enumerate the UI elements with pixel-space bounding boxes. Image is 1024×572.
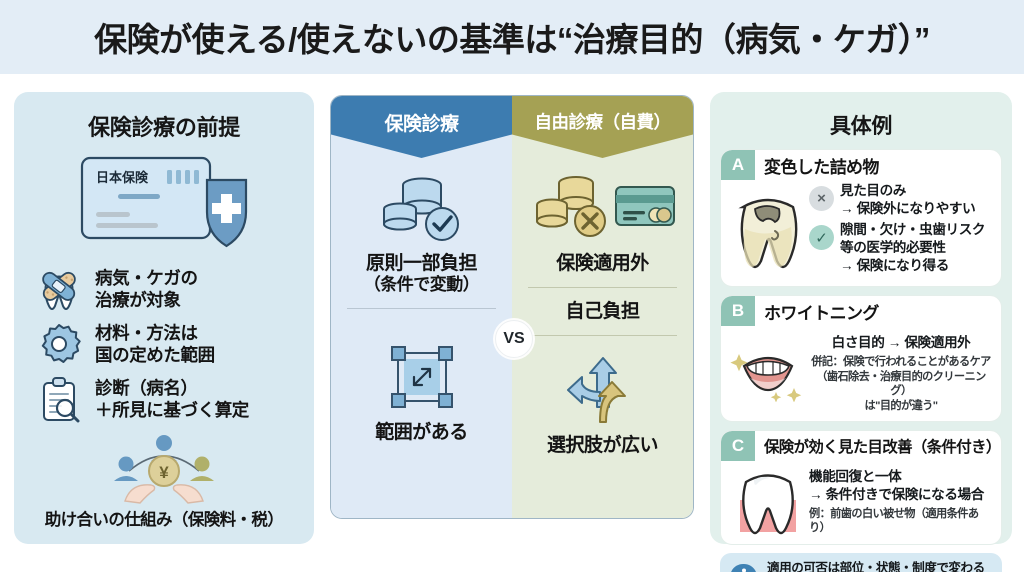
- example-badge-a: A: [721, 150, 755, 180]
- bullet-item-2-line1: 診断（病名）: [95, 377, 249, 399]
- example-row-a-1: ✓ 隙間・欠け・虫歯リスク 等の医学的必要性 → 保険になり得る: [809, 221, 993, 274]
- example-row-a-0-line2: → 保険外になりやすい: [840, 200, 975, 218]
- divider: [528, 335, 677, 336]
- check-icon: ✓: [809, 225, 834, 250]
- smiling-mouth-sparkle-icon: [729, 328, 807, 413]
- example-row-a-0: × 見た目のみ → 保険外になりやすい: [809, 182, 993, 217]
- mutual-aid-caption: 助け合いの仕組み（保険料・税）: [28, 506, 300, 530]
- example-card-b-text: 白さ目的 → 保険適用外 併記：保険で行われることがあるケア （歯石除去・治療目…: [807, 328, 993, 413]
- bullet-item-1-text: 材料・方法は 国の定めた範囲: [95, 322, 215, 367]
- mutual-aid-illustration: ¥: [28, 431, 300, 505]
- example-card-a-rows: × 見た目のみ → 保険外になりやすい ✓ 隙間・欠け・虫歯リスク 等の医学的必…: [807, 182, 993, 278]
- clipboard-magnifier-icon: [36, 376, 82, 422]
- bullet-item-1-line1: 材料・方法は: [95, 322, 215, 344]
- example-c-main1: 機能回復と一体: [809, 468, 993, 486]
- comparison-right-body: 保険適用外 自己負担 選択肢が広い: [512, 158, 693, 458]
- example-card-c-text: 機能回復と一体 → 条件付きで保険になる場合 例：前歯の白い被せ物（適用条件あり…: [807, 463, 993, 535]
- example-badge-b: B: [721, 296, 755, 326]
- gear-icon: [36, 321, 82, 367]
- coins-check-icon: [343, 166, 500, 250]
- example-card-c-header: C 保険が効く見た目改善（条件付き）: [721, 431, 1001, 461]
- example-b-note-0: 併記：保険で行われることがあるケア: [809, 355, 993, 370]
- comparison-right-item-1-label: 自己負担: [524, 300, 681, 323]
- example-card-b-header: B ホワイトニング: [721, 296, 1001, 326]
- info-icon: [730, 563, 758, 572]
- example-row-a-0-line1: 見た目のみ: [840, 182, 975, 200]
- comparison-left-item-0-sub: （条件で変動）: [343, 275, 500, 296]
- example-card-a-body: × 見た目のみ → 保険外になりやすい ✓ 隙間・欠け・虫歯リスク 等の医学的必…: [721, 180, 1001, 286]
- vs-badge: VS: [495, 320, 533, 358]
- example-row-a-1-line3: → 保険になり得る: [840, 257, 985, 275]
- example-c-note: 例：前歯の白い被せ物（適用条件あり）: [809, 507, 993, 536]
- example-b-note-1: （歯石除去・治療目的のクリーニング）: [809, 370, 993, 399]
- example-row-a-1-line1: 隙間・欠け・虫歯リスク: [840, 221, 985, 239]
- left-panel: 保険診療の前提 日本保険: [14, 92, 314, 544]
- insurance-card-illustration: 日本保険: [28, 150, 300, 254]
- svg-text:¥: ¥: [159, 463, 169, 482]
- comparison-panel: 保険診療: [330, 95, 694, 519]
- comparison-card: 保険診療: [330, 95, 694, 519]
- bullet-item-0: 病気・ケガの 治療が対象: [36, 266, 300, 312]
- bullet-item-1: 材料・方法は 国の定めた範囲: [36, 321, 300, 367]
- mutual-aid-yen-icon: ¥: [101, 431, 227, 505]
- discolored-filling-tooth-icon: [729, 182, 807, 278]
- footnote-text: 適用の可否は部位・状態・制度で変わる ため、診査のうえ説明します: [767, 560, 985, 572]
- right-panel-title: 具体例: [720, 110, 1002, 140]
- comparison-left-header: 保険診療: [331, 96, 512, 158]
- branching-arrows-icon: [524, 348, 681, 432]
- bullet-item-0-line2: 治療が対象: [95, 289, 198, 311]
- comparison-side-insurance: 保険診療: [331, 96, 512, 518]
- divider: [528, 287, 677, 288]
- bullet-item-2-text: 診断（病名） ＋所見に基づく算定: [95, 377, 249, 422]
- insurance-card-shield-icon: 日本保険: [74, 150, 254, 254]
- example-title-c: 保険が効く見た目改善（条件付き）: [755, 435, 1001, 457]
- comparison-left-item-1-label: 範囲がある: [343, 421, 500, 444]
- comparison-left-item-0-label: 原則一部負担 （条件で変動）: [343, 252, 500, 296]
- example-card-c-body: 機能回復と一体 → 条件付きで保険になる場合 例：前歯の白い被せ物（適用条件あり…: [721, 461, 1001, 543]
- comparison-left-item-0-main: 原則一部負担: [366, 253, 477, 274]
- resize-frame-icon: [343, 335, 500, 419]
- bullet-item-2-line2: ＋所見に基づく算定: [95, 399, 249, 421]
- coins-x-creditcard-icon: [524, 166, 681, 250]
- bullet-item-1-line2: 国の定めた範囲: [95, 344, 215, 366]
- comparison-left-body: 原則一部負担 （条件で変動）: [331, 158, 512, 444]
- comparison-side-private: 自由診療（自費）: [512, 96, 693, 518]
- infographic-page: 保険が使える/使えないの基準は“治療目的（病気・ケガ）” 保険診療の前提 日本保…: [0, 0, 1024, 572]
- right-panel: 具体例 A 変色した詰め物 ×: [710, 92, 1012, 544]
- example-card-a: A 変色した詰め物 × 見た目のみ: [720, 149, 1002, 287]
- header-band: 保険が使える/使えないの基準は“治療目的（病気・ケガ）”: [0, 0, 1024, 74]
- card-label: 日本保険: [96, 170, 149, 185]
- bullet-item-0-line1: 病気・ケガの: [95, 267, 198, 289]
- bullet-item-0-text: 病気・ケガの 治療が対象: [95, 267, 198, 312]
- example-badge-c: C: [721, 431, 755, 461]
- bullet-item-2: 診断（病名） ＋所見に基づく算定: [36, 376, 300, 422]
- example-card-c: C 保険が効く見た目改善（条件付き） 機能回復と一体 → 条件付きで保険になる場…: [720, 430, 1002, 544]
- left-panel-title: 保険診療の前提: [28, 110, 300, 142]
- divider: [347, 308, 496, 309]
- footnote-line1: 適用の可否は部位・状態・制度で変わる: [767, 560, 985, 572]
- tooth-gum-icon: [729, 463, 807, 535]
- left-bullet-list: 病気・ケガの 治療が対象 材料・方法は 国の定めた範囲: [28, 266, 300, 422]
- example-c-main2: → 条件付きで保険になる場合: [809, 486, 993, 504]
- page-title: 保険が使える/使えないの基準は“治療目的（病気・ケガ）”: [94, 13, 930, 61]
- example-card-a-header: A 変色した詰め物: [721, 150, 1001, 180]
- example-title-b: ホワイトニング: [755, 299, 879, 324]
- comparison-right-item-0-label: 保険適用外: [524, 252, 681, 275]
- example-b-main: 白さ目的 → 保険適用外: [809, 334, 993, 352]
- example-card-b-body: 白さ目的 → 保険適用外 併記：保険で行われることがあるケア （歯石除去・治療目…: [721, 326, 1001, 421]
- footnote: 適用の可否は部位・状態・制度で変わる ため、診査のうえ説明します: [720, 553, 1002, 572]
- comparison-right-header: 自由診療（自費）: [512, 96, 693, 158]
- cross-icon: ×: [809, 186, 834, 211]
- example-row-a-1-line2: 等の医学的必要性: [840, 239, 985, 257]
- comparison-right-item-2-label: 選択肢が広い: [524, 434, 681, 457]
- example-title-a: 変色した詰め物: [755, 153, 879, 178]
- example-card-b: B ホワイトニング: [720, 295, 1002, 422]
- tooth-bandage-icon: [36, 266, 82, 312]
- example-b-note-2: は"目的が違う": [809, 399, 993, 414]
